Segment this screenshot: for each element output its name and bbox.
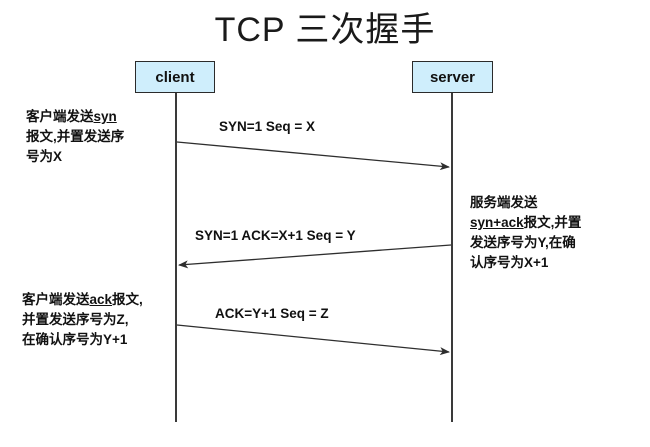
note-line: 认序号为X+1 bbox=[470, 253, 581, 273]
note-line: 并置发送序号为Z, bbox=[22, 310, 143, 330]
note-text: 报文,并置 bbox=[524, 215, 582, 230]
note-line: 在确认序号为Y+1 bbox=[22, 330, 143, 350]
message-label-syn: SYN=1 Seq = X bbox=[219, 119, 315, 134]
tcp-handshake-diagram: TCP 三次握手 client server SYN=1 Seq = X SYN… bbox=[0, 0, 650, 447]
note-text: 客户端发送 bbox=[22, 292, 90, 307]
note-line: 客户端发送syn bbox=[26, 107, 124, 127]
note-text: 报文, bbox=[112, 292, 143, 307]
note-line: 客户端发送ack报文, bbox=[22, 290, 143, 310]
note-line: 号为X bbox=[26, 147, 124, 167]
node-label-client: client bbox=[155, 69, 194, 86]
note-emphasis: ack bbox=[90, 292, 113, 307]
node-box-client[interactable]: client bbox=[135, 61, 215, 93]
note-emphasis: syn+ack bbox=[470, 215, 524, 230]
note-emphasis: syn bbox=[94, 109, 117, 124]
note-line: 报文,并置发送序 bbox=[26, 127, 124, 147]
message-label-syn-ack: SYN=1 ACK=X+1 Seq = Y bbox=[195, 228, 356, 243]
message-label-ack: ACK=Y+1 Seq = Z bbox=[215, 306, 329, 321]
message-arrow-ack bbox=[177, 325, 449, 352]
node-label-server: server bbox=[430, 69, 475, 86]
node-box-server[interactable]: server bbox=[412, 61, 493, 93]
message-arrow-syn-ack bbox=[179, 245, 451, 265]
note-line: 服务端发送 bbox=[470, 193, 581, 213]
message-arrow-syn bbox=[177, 142, 449, 167]
note-client-ack: 客户端发送ack报文, 并置发送序号为Z, 在确认序号为Y+1 bbox=[22, 290, 143, 350]
note-client-syn: 客户端发送syn 报文,并置发送序 号为X bbox=[26, 107, 124, 167]
note-text: 客户端发送 bbox=[26, 109, 94, 124]
note-line: syn+ack报文,并置 bbox=[470, 213, 581, 233]
note-server-syn-ack: 服务端发送 syn+ack报文,并置 发送序号为Y,在确 认序号为X+1 bbox=[470, 193, 581, 273]
note-line: 发送序号为Y,在确 bbox=[470, 233, 581, 253]
